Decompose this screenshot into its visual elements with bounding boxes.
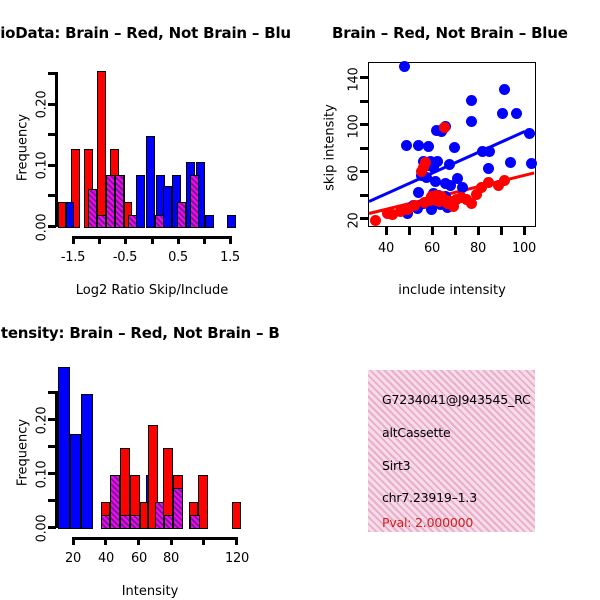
scatter-y-ticklabel-60: 60 — [347, 154, 362, 194]
intensity-bar-overlap-3 — [130, 515, 140, 529]
scatter-point-not-brain — [466, 116, 477, 127]
scatter-point-not-brain — [511, 108, 522, 119]
ratio-bar-blue-10 — [227, 215, 236, 228]
ratio-bar-overlap-4 — [128, 215, 137, 228]
intensity-histogram-bars — [0, 300, 300, 600]
scatter-x-tick-70 — [454, 227, 457, 235]
gene-id-text: G7234041@J943545_RC — [382, 392, 531, 407]
scatter-point-not-brain — [483, 163, 494, 174]
ratio-bar-blue-0 — [66, 202, 74, 228]
scatter-point-not-brain — [505, 157, 516, 168]
intensity-scatter-xlabel: include intensity — [382, 283, 522, 298]
intensity-bar-red-10 — [232, 502, 241, 529]
scatter-x-tick-50 — [408, 227, 411, 235]
scatter-x-tick-40 — [385, 227, 388, 235]
ratio-bar-overlap-7 — [190, 175, 199, 228]
ratio-histogram-bars — [0, 0, 300, 300]
scatter-point-not-brain — [444, 159, 455, 170]
ratio-bar-red-3 — [97, 71, 106, 228]
scatter-x-ticklabel-80: 80 — [458, 241, 498, 256]
intensity-bar-blue-1 — [70, 434, 81, 529]
pval-text: Pval: 2.000000 — [382, 515, 473, 530]
ratio-bar-overlap-2 — [106, 175, 115, 228]
ratio-bar-overlap-3 — [115, 175, 124, 228]
ratio-bar-overlap-6 — [177, 202, 186, 228]
scatter-point-not-brain — [499, 84, 510, 95]
scatter-y-ticklabel-100: 100 — [347, 103, 362, 151]
scatter-point-not-brain — [524, 128, 535, 139]
event-type-text: altCassette — [382, 425, 450, 440]
intensity-bar-blue-2 — [81, 394, 93, 529]
scatter-point-not-brain — [401, 140, 412, 151]
scatter-point-not-brain — [399, 61, 410, 72]
ratio-histogram-panel: RatioData: Brain – Red, Not Brain – Blu … — [0, 0, 300, 300]
intensity-histogram-panel: ne Itensity: Brain – Red, Not Brain – B … — [0, 300, 300, 600]
gene-info-panel: G7234041@J943545_RC altCassette Sirt3 ch… — [368, 370, 535, 532]
scatter-point-not-brain — [466, 95, 477, 106]
intensity-bar-overlap-0 — [101, 515, 110, 529]
scatter-point-not-brain — [445, 180, 456, 191]
scatter-point-not-brain — [423, 141, 434, 152]
intensity-scatter-title: Brain – Red, Not Brain – Blue — [332, 24, 568, 42]
ratio-bar-blue-3 — [146, 136, 155, 228]
intensity-bar-overlap-6 — [173, 488, 183, 529]
intensity-bar-overlap-1 — [110, 475, 120, 529]
ratio-bar-blue-2 — [136, 175, 145, 228]
intensity-bar-overlap-7 — [190, 515, 200, 529]
intensity-scatter-ylabel: skip intensity — [323, 103, 338, 193]
intensity-bar-red-4 — [140, 502, 148, 529]
scatter-point-not-brain — [526, 158, 537, 169]
ratio-bar-blue-9 — [205, 215, 214, 228]
intensity-bar-blue-0 — [58, 367, 70, 529]
intensity-scatter-plot-area — [368, 62, 536, 227]
scatter-point-brain — [499, 175, 510, 186]
scatter-y-ticklabel-140: 140 — [347, 56, 362, 104]
intensity-scatter-panel: Brain – Red, Not Brain – Blue skip inten… — [300, 0, 600, 300]
intensity-bar-overlap-5 — [164, 515, 173, 529]
scatter-point-not-brain — [449, 142, 460, 153]
ratio-bar-overlap-5 — [155, 215, 164, 228]
scatter-x-ticklabel-60: 60 — [412, 241, 452, 256]
scatter-point-brain — [439, 122, 450, 133]
coordinate-text: chr7.23919–1.3 — [382, 490, 477, 505]
scatter-point-brain — [370, 215, 381, 226]
scatter-x-tick-60 — [431, 227, 434, 235]
ratio-bar-overlap-1 — [97, 215, 106, 228]
ratio-bar-blue-5 — [163, 186, 172, 228]
scatter-point-not-brain — [484, 146, 495, 157]
scatter-x-tick-90 — [500, 227, 503, 235]
scatter-point-brain — [416, 166, 427, 177]
intensity-bar-overlap-4 — [155, 502, 164, 529]
ratio-bar-overlap-0 — [88, 189, 97, 228]
scatter-x-tick-80 — [477, 227, 480, 235]
scatter-y-tick-40 — [360, 194, 368, 197]
scatter-point-not-brain — [497, 108, 508, 119]
scatter-x-tick-100 — [523, 227, 526, 235]
scatter-point-brain — [448, 201, 459, 212]
scatter-x-ticklabel-100: 100 — [501, 241, 547, 256]
scatter-x-ticklabel-40: 40 — [366, 241, 406, 256]
gene-symbol-text: Sirt3 — [382, 458, 410, 473]
ratio-bar-red-0 — [58, 202, 66, 228]
scatter-y-ticklabel-20: 20 — [347, 201, 362, 241]
intensity-bar-overlap-2 — [120, 515, 130, 529]
